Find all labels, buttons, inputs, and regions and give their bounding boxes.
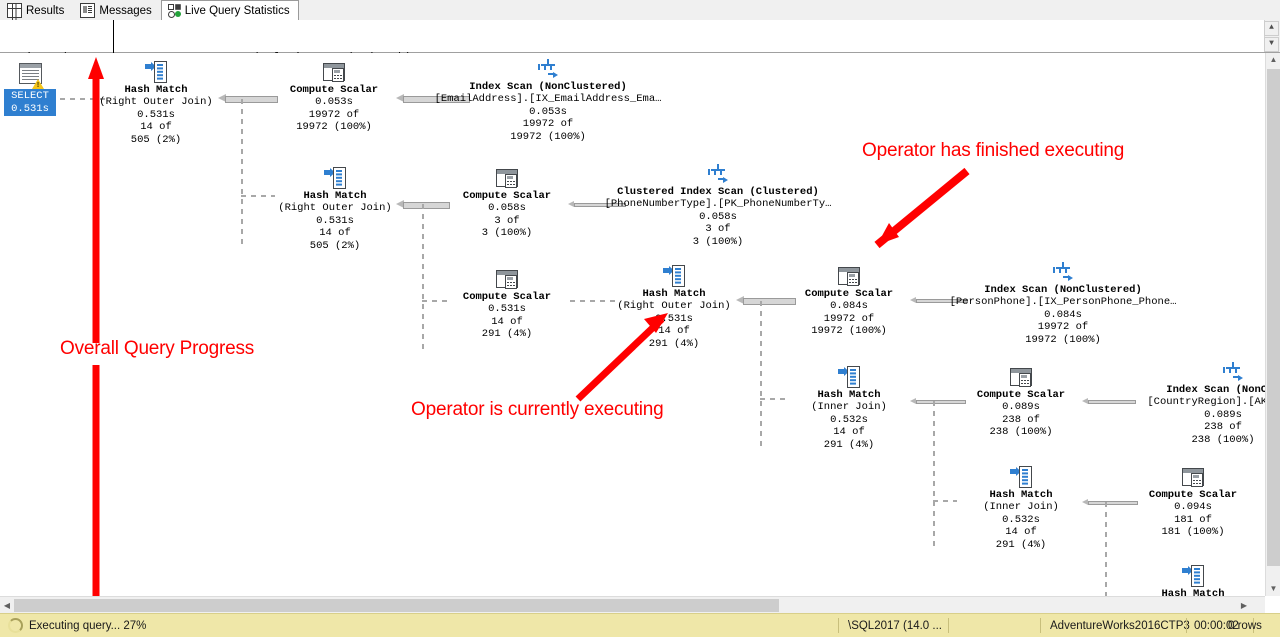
operator-progress: 291 (4%) [448,328,566,340]
operator-progress: 3 (100%) [590,236,846,248]
annotation-operator-finished: Operator has finished executing [862,140,1124,162]
plan-node-cs2[interactable]: Compute Scalar 0.058s 3 of 3 (100%) [448,167,566,240]
operator-rows: 19972 of [935,321,1191,333]
tab-results-label: Results [26,5,64,17]
plan-node-cs4[interactable]: Compute Scalar 0.084s 19972 of 19972 (10… [790,265,908,338]
operator-progress: 505 (2%) [275,240,395,252]
operator-rows: 238 of [1108,421,1265,433]
compute-scalar-icon [323,61,345,83]
select-result-icon: ! [15,63,45,89]
status-database: AdventureWorks2016CTP3 [1050,614,1190,637]
plan-edge-arrow [1082,498,1138,507]
operator-name: Compute Scalar [448,190,566,202]
plan-node-cs3[interactable]: Compute Scalar 0.531s 14 of 291 (4%) [448,268,566,341]
operator-rows: 19972 of [790,313,908,325]
operator-rows: 19972 of [418,118,678,130]
message-icon [80,3,95,18]
plan-edge-dashed [241,195,275,197]
operator-time: 0.532s [962,514,1080,526]
operator-progress: 291 (4%) [962,539,1080,551]
operator-name: Index Scan (NonClustered) [418,81,678,93]
grid-icon [7,3,22,18]
tab-live-query-statistics-label: Live Query Statistics [185,5,290,17]
operator-rows: 3 of [590,223,846,235]
operator-name: Compute Scalar [448,291,566,303]
status-bar: Executing query... 27% \SQL2017 (14.0 ..… [0,613,1280,637]
hash-match-icon [145,61,167,83]
index-scan-icon [1052,261,1074,283]
plan-node-select[interactable]: ! SELECT 0.531s [4,63,56,116]
plan-node-scan3[interactable]: Index Scan (NonClustered) [PersonPhone].… [935,261,1191,346]
index-scan-icon [1222,361,1244,383]
operator-rows: 14 of [275,227,395,239]
operator-progress: 3 (100%) [448,227,566,239]
index-scan-icon [707,163,729,185]
operator-time: 0.089s [1108,409,1265,421]
compute-scalar-icon [1010,366,1032,388]
operator-rows: 14 of [96,121,216,133]
operator-time: 0.094s [1134,501,1252,513]
operator-subtitle: (Right Outer Join) [275,202,395,214]
operator-progress: 19972 (100%) [790,325,908,337]
operator-progress: 19972 (100%) [418,131,678,143]
scroll-down-button[interactable]: ▼ [1264,37,1279,52]
operator-name: Index Scan (NonClustered) [935,284,1191,296]
operator-subtitle: [PersonPhone].[IX_PersonPhone_Phone… [935,296,1191,308]
plan-node-cs1[interactable]: Compute Scalar 0.053s 19972 of 19972 (10… [275,61,393,134]
operator-time: 0.058s [590,211,846,223]
warning-triangle-icon: ! [32,79,44,89]
plan-node-hash4[interactable]: Hash Match (Inner Join) 0.532s 14 of 291… [790,366,908,451]
horizontal-scrollbar-thumb[interactable] [14,599,779,612]
operator-time: 0.058s [448,202,566,214]
plan-edge-dashed [933,500,957,502]
compute-scalar-icon [496,268,518,290]
operator-name: Hash Match [96,84,216,96]
status-executing-label: Executing query... 27% [29,620,146,632]
operator-rows: 14 of [790,426,908,438]
operator-name: Clustered Index Scan (Clustered) [590,186,846,198]
header-scrollbar[interactable]: ▲ ▼ [1264,20,1280,52]
operator-time: 0.084s [790,300,908,312]
plan-edge-dashed [760,301,762,449]
plan-edge-arrow [218,94,278,103]
operator-name: Hash Match [790,389,908,401]
scroll-up-button[interactable]: ▲ [1264,21,1279,36]
operator-progress: 19972 (100%) [275,121,393,133]
operator-name: Hash Match [275,190,395,202]
operator-rows: 14 of [962,526,1080,538]
plan-node-hash1[interactable]: Hash Match (Right Outer Join) 0.531s 14 … [96,61,216,146]
operator-name: Index Scan (NonClu [1108,384,1265,396]
hash-match-icon [324,167,346,189]
compute-scalar-icon [1182,466,1204,488]
operator-subtitle: (Right Outer Join) [96,96,216,108]
operator-time: 0.532s [790,414,908,426]
live-query-statistics-icon [168,4,181,17]
compute-scalar-icon [496,167,518,189]
operator-name: Compute Scalar [1134,489,1252,501]
plan-node-hash2[interactable]: Hash Match (Right Outer Join) 0.531s 14 … [275,167,395,252]
scroll-down-button[interactable]: ▼ [1267,582,1280,596]
operator-rows: 14 of [448,316,566,328]
plan-edge-arrow [736,296,796,305]
operator-time: 0.531s [275,215,395,227]
vertical-scrollbar-thumb[interactable] [1267,69,1280,566]
estimated-query-progress-box: Estimated query progress:27% [0,20,114,53]
operator-progress: 181 (100%) [1134,526,1252,538]
operator-time: 0.084s [935,309,1191,321]
plan-edge-dashed [241,99,243,247]
plan-edge-dashed [1105,502,1107,596]
hash-match-icon [838,366,860,388]
results-pane-tabstrip: Results Messages Live Query Statistics [0,0,1280,21]
vertical-scrollbar[interactable]: ▲ ▼ [1265,53,1280,596]
tab-results[interactable]: Results [0,0,73,20]
operator-name: Compute Scalar [962,389,1080,401]
operator-rows: 238 of [962,414,1080,426]
plan-node-scan1[interactable]: Index Scan (NonClustered) [EmailAddress]… [418,58,678,143]
operator-time: 0.053s [275,96,393,108]
plan-edge-dashed [422,204,424,352]
plan-edge-dashed [933,401,935,549]
plan-edge-dashed [760,398,788,400]
tab-messages[interactable]: Messages [73,0,160,20]
operator-rows: 19972 of [275,109,393,121]
status-server: \SQL2017 (14.0 ... [848,614,942,637]
operator-name: Hash Match [962,489,1080,501]
annotation-arrow-executing [570,311,680,406]
operator-subtitle: (Inner Join) [962,501,1080,513]
spinner-icon [8,618,23,633]
operator-rows: 3 of [448,215,566,227]
hash-match-icon [1182,565,1204,587]
hash-match-icon [663,265,685,287]
operator-time: 0.089s [962,401,1080,413]
status-executing: Executing query... 27% [8,614,146,637]
operator-progress: 291 (4%) [790,439,908,451]
plan-node-cs5[interactable]: Compute Scalar 0.089s 238 of 238 (100%) [962,366,1080,439]
operator-name: Compute Scalar [275,84,393,96]
operator-name: Hash Match [613,288,735,300]
operator-progress: 238 (100%) [962,426,1080,438]
plan-node-hash5[interactable]: Hash Match (Inner Join) 0.532s 14 of 291… [962,466,1080,551]
tab-messages-label: Messages [99,5,151,17]
annotation-arrow-progress [88,53,108,353]
operator-name: Compute Scalar [790,288,908,300]
scroll-up-button[interactable]: ▲ [1267,53,1280,67]
annotation-arrow-progress-lower [88,365,108,596]
plan-edge-dashed [570,300,618,302]
status-rows: 0 rows [1228,614,1262,637]
execution-plan-canvas[interactable]: ! SELECT 0.531s Hash Match (Right Outer … [0,53,1265,596]
operator-subtitle: [CountryRegion].[AK_Cou… [1108,396,1265,408]
operator-subtitle: (Inner Join) [790,401,908,413]
plan-node-scan2[interactable]: Clustered Index Scan (Clustered) [PhoneN… [590,163,846,248]
annotation-arrow-finished [855,165,975,265]
operator-progress: 505 (2%) [96,134,216,146]
horizontal-scrollbar[interactable]: ◀ ▶ [0,596,1265,614]
plan-node-cs6[interactable]: Compute Scalar 0.094s 181 of 181 (100%) [1134,466,1252,539]
plan-node-hash6[interactable]: Hash Match [1134,565,1252,596]
operator-time: 0.531s [96,109,216,121]
query-text-block: Query 1: Query cost (relative to the bat… [115,20,1264,53]
operator-name: Hash Match [1134,588,1252,596]
select-node-label: SELECT 0.531s [4,89,56,116]
operator-time: 0.053s [418,106,678,118]
plan-node-scan4[interactable]: Index Scan (NonClu [CountryRegion].[AK_C… [1108,361,1265,446]
hash-match-icon [1010,466,1032,488]
tab-live-query-statistics[interactable]: Live Query Statistics [161,0,299,21]
operator-subtitle: [PhoneNumberType].[PK_PhoneNumberTy… [590,198,846,210]
operator-rows: 181 of [1134,514,1252,526]
plan-edge-arrow [910,397,966,406]
operator-progress: 238 (100%) [1108,434,1265,446]
query-plan-header: Estimated query progress:27% Query 1: Qu… [0,20,1280,53]
operator-subtitle: [EmailAddress].[IX_EmailAddress_Ema… [418,93,678,105]
compute-scalar-icon [838,265,860,287]
operator-time: 0.531s [448,303,566,315]
scroll-right-button[interactable]: ▶ [1237,597,1251,614]
operator-progress: 19972 (100%) [935,334,1191,346]
index-scan-icon [537,58,559,80]
scroll-left-button[interactable]: ◀ [0,597,14,614]
